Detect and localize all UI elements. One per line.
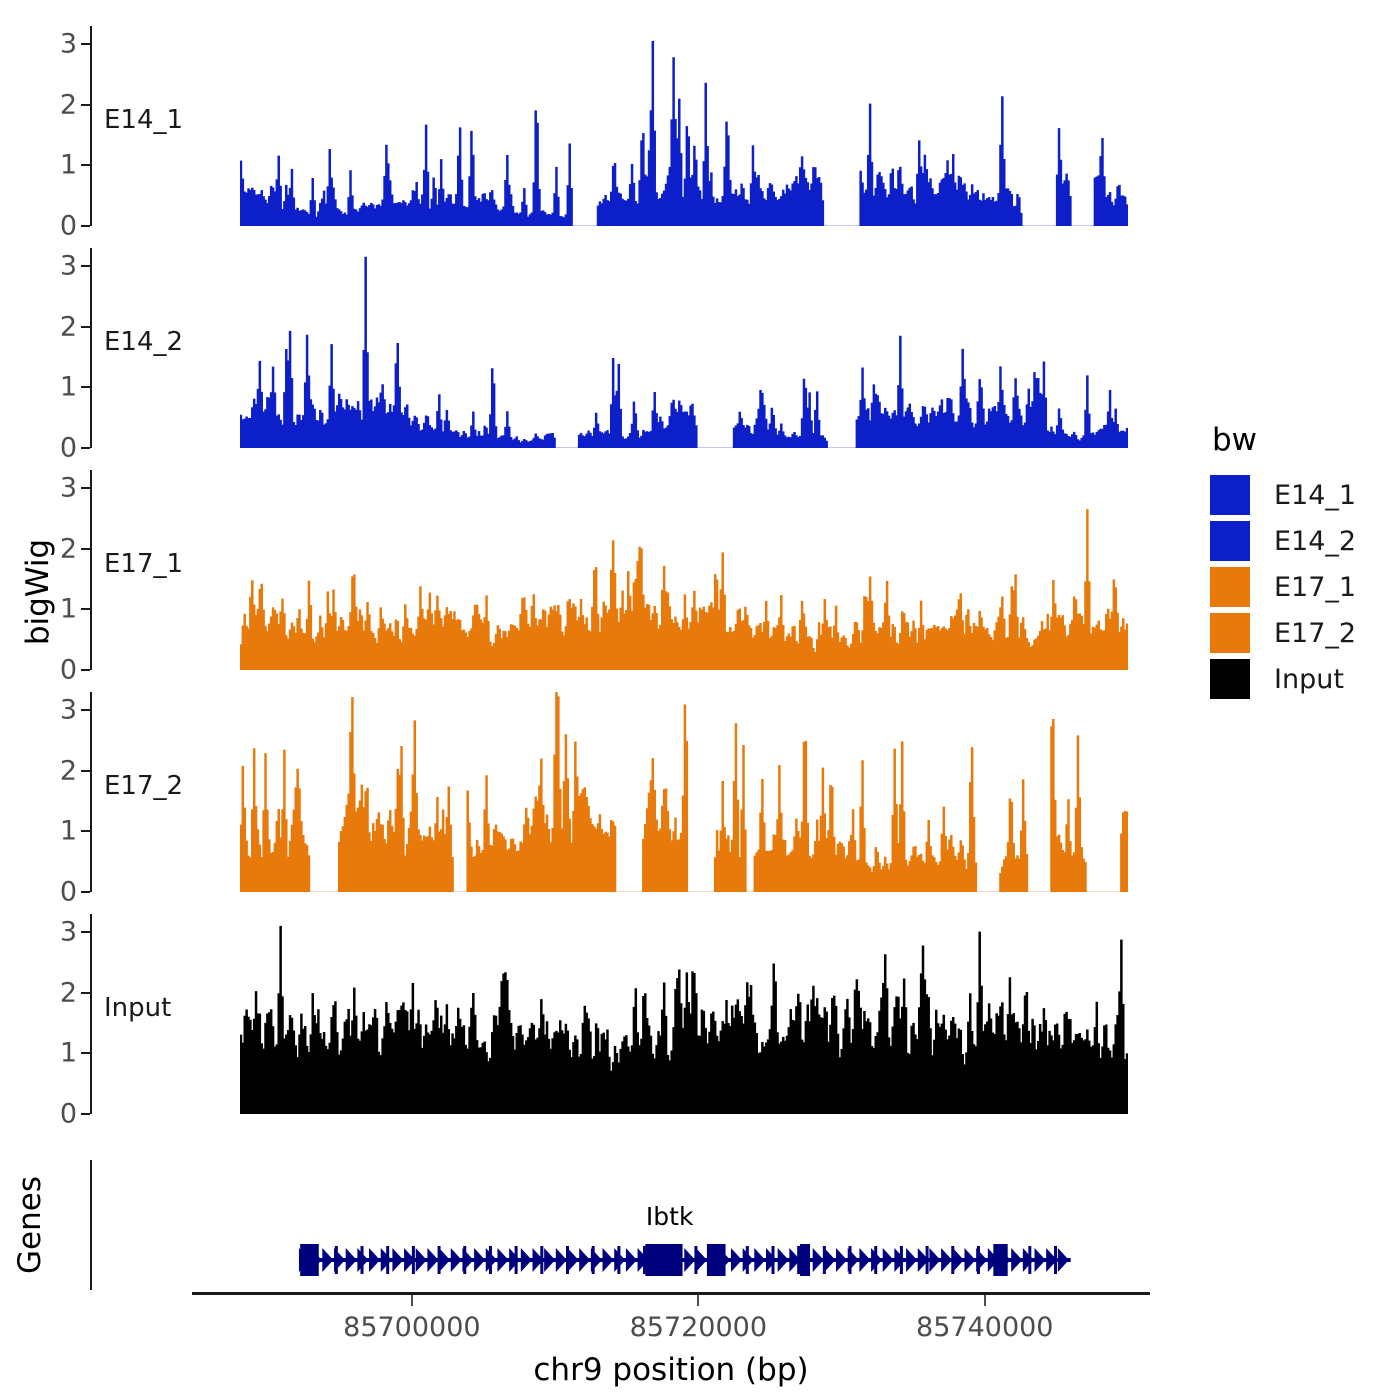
gene-feature-tick [926,1246,929,1274]
y-tick [81,770,90,772]
y-tick-label: 3 [60,919,77,946]
y-tick [81,386,90,388]
signal-area-e17_2 [240,692,1128,892]
signal-path-e17_1 [240,470,1128,670]
gene-feature-tick [386,1246,389,1274]
y-tick-label: 2 [60,757,77,784]
gene-strand-arrow [568,1248,579,1272]
facet-label-e14_2: E14_2 [104,327,183,357]
y-tick [81,709,90,711]
y-tick-label: 0 [60,879,77,906]
y-tick [81,1052,90,1054]
legend-title: bw [1212,425,1390,456]
gene-feature-tick [951,1246,954,1274]
y-tick-label: 2 [60,313,77,340]
gene-feature-tick [463,1246,466,1274]
y-tick-label: 2 [60,535,77,562]
gene-strand-arrow [883,1248,894,1272]
y-tick-label: 2 [60,91,77,118]
gene-exon [645,1244,682,1276]
facet-panel-e17_1: 0123E17_1 [90,470,1150,670]
y-tick [81,326,90,328]
y-tick [81,265,90,267]
legend-swatch-e14_1 [1210,475,1250,515]
y-tick [81,891,90,893]
y-tick [81,669,90,671]
x-tick-label: 85700000 [343,1312,480,1343]
y-tick-label: 0 [60,657,77,684]
x-tick [697,1295,699,1306]
gene-strand-arrow [953,1248,964,1272]
y-tick [81,1113,90,1115]
gene-strand-arrow [778,1248,789,1272]
gene-feature-tick [797,1246,800,1274]
gene-feature-tick [771,1246,774,1274]
gene-strand-arrow [929,1248,940,1272]
gene-strand-arrow [1058,1248,1069,1272]
legend-swatch-e14_2 [1210,521,1250,561]
gene-strand-arrow [322,1248,333,1272]
y-tick-label: 1 [60,818,77,845]
facet-panel-input: 0123Input [90,914,1150,1114]
gene-strand-arrow [626,1248,637,1272]
y-tick-label: 3 [60,697,77,724]
y-tick [81,164,90,166]
gene-strand-arrow [369,1248,380,1272]
gene-exon [707,1244,726,1276]
panel-axis-e17_2 [90,692,92,892]
gene-feature-tick [438,1246,441,1274]
gene-strand-arrow [439,1248,450,1272]
gene-strand-arrow [1035,1248,1046,1272]
y-tick [81,548,90,550]
panel-axis-input [90,914,92,1114]
panel-axis-e14_1 [90,26,92,226]
legend-item-input[interactable]: Input [1210,656,1390,702]
gene-feature-tick [977,1246,980,1274]
legend-label: Input [1274,666,1344,693]
gene-feature-tick [617,1246,620,1274]
x-tick [411,1295,413,1306]
gene-model-svg [90,1160,1150,1290]
signal-area-e14_2 [240,248,1128,448]
gene-strand-arrow [964,1248,975,1272]
gene-strand-arrow [346,1248,357,1272]
facet-panel-e14_1: 0123E14_1 [90,26,1150,226]
legend-label: E17_2 [1274,620,1356,647]
y-tick [81,992,90,994]
legend-item-e14_2[interactable]: E14_2 [1210,518,1390,564]
gene-strand-arrow [696,1248,707,1272]
signal-path-e14_1 [240,26,1128,226]
facet-label-input: Input [104,993,171,1023]
gene-strand-arrow [859,1248,870,1272]
gene-feature-tick [412,1246,415,1274]
y-tick-label: 2 [60,979,77,1006]
gene-strand-arrow [497,1248,508,1272]
legend-items: E14_1E14_2E17_1E17_2Input [1210,472,1390,702]
gene-strand-arrow [451,1248,462,1272]
legend-item-e17_1[interactable]: E17_1 [1210,564,1390,610]
gene-strand-arrow [603,1248,614,1272]
legend: bw E14_1E14_2E17_1E17_2Input [1210,425,1390,702]
gene-strand-arrow [731,1248,742,1272]
gene-feature-tick [900,1246,903,1274]
x-tick-label: 85740000 [916,1312,1053,1343]
gene-feature-tick [515,1246,518,1274]
legend-item-e17_2[interactable]: E17_2 [1210,610,1390,656]
y-tick [81,487,90,489]
gene-feature-tick [823,1246,826,1274]
facet-label-e17_2: E17_2 [104,771,183,801]
y-tick-label: 1 [60,596,77,623]
legend-label: E14_2 [1274,528,1356,555]
x-axis-title: chr9 position (bp) [193,1350,1149,1390]
x-tick-label: 85720000 [630,1312,767,1343]
signal-area-e14_1 [240,26,1128,226]
facet-panel-e14_2: 0123E14_2 [90,248,1150,448]
legend-swatch-e17_2 [1210,613,1250,653]
facet-label-e14_1: E14_1 [104,105,183,135]
gene-track[interactable]: Ibtk [90,1160,1150,1290]
y-tick [81,830,90,832]
gene-feature-tick [874,1246,877,1274]
y-tick-label: 3 [60,31,77,58]
gene-strand-arrow [427,1248,438,1272]
legend-label: E17_1 [1274,574,1356,601]
genes-panel: Ibtk [90,1160,1150,1290]
gene-feature-tick [746,1246,749,1274]
y-tick [81,931,90,933]
facet-panel-e17_2: 0123E17_2 [90,692,1150,892]
legend-swatch-input [1210,659,1250,699]
signal-path-input [240,914,1128,1114]
gene-strand-arrow [836,1248,847,1272]
y-tick-label: 1 [60,1040,77,1067]
gene-strand-arrow [544,1248,555,1272]
signal-area-input [240,914,1128,1114]
gene-feature-tick [592,1246,595,1274]
gene-feature-tick [566,1246,569,1274]
gene-strand-arrow [906,1248,917,1272]
y-tick-label: 0 [60,213,77,240]
gene-strand-arrow [416,1248,427,1272]
y-tick-label: 1 [60,374,77,401]
gene-exon [800,1244,810,1276]
gene-strand-arrow [1011,1248,1022,1272]
gene-feature-tick [335,1246,338,1274]
legend-item-e14_1[interactable]: E14_1 [1210,472,1390,518]
gene-label: Ibtk [646,1202,694,1231]
gene-strand-arrow [521,1248,532,1272]
y-tick [81,43,90,45]
gene-feature-tick [1028,1246,1031,1274]
facet-label-e17_1: E17_1 [104,549,183,579]
gene-strand-arrow [813,1248,824,1272]
gene-feature-tick [1054,1246,1057,1274]
y-tick-label: 1 [60,152,77,179]
signal-path-e17_2 [240,692,1128,892]
gene-strand-arrow [556,1248,567,1272]
panel-axis-e17_1 [90,470,92,670]
signal-area-e17_1 [240,470,1128,670]
y-tick-label: 0 [60,1101,77,1128]
gene-strand-arrow [684,1248,695,1272]
gene-strand-arrow [392,1248,403,1272]
y-axis-title: bigWig [18,492,58,692]
y-tick-label: 3 [60,253,77,280]
gene-feature-tick [489,1246,492,1274]
gene-strand-arrow [754,1248,765,1272]
signal-path-e14_2 [240,248,1128,448]
gene-exon [300,1244,319,1276]
y-tick [81,225,90,227]
legend-swatch-e17_1 [1210,567,1250,607]
x-axis-line [192,1292,1150,1295]
gene-feature-tick [694,1246,697,1274]
y-tick-label: 0 [60,435,77,462]
gene-strand-arrow [824,1248,835,1272]
gene-feature-tick [849,1246,852,1274]
gene-feature-tick [540,1246,543,1274]
panel-axis-e14_2 [90,248,92,448]
gene-exon [993,1244,1007,1276]
gene-feature-tick [361,1246,364,1274]
legend-label: E14_1 [1274,482,1356,509]
gene-strand-arrow [579,1248,590,1272]
y-tick [81,104,90,106]
genes-axis-title: Genes [10,1145,50,1305]
y-tick [81,608,90,610]
y-tick-label: 3 [60,475,77,502]
y-tick [81,447,90,449]
gene-strand-arrow [474,1248,485,1272]
x-tick [984,1295,986,1306]
gene-strand-arrow [941,1248,952,1272]
